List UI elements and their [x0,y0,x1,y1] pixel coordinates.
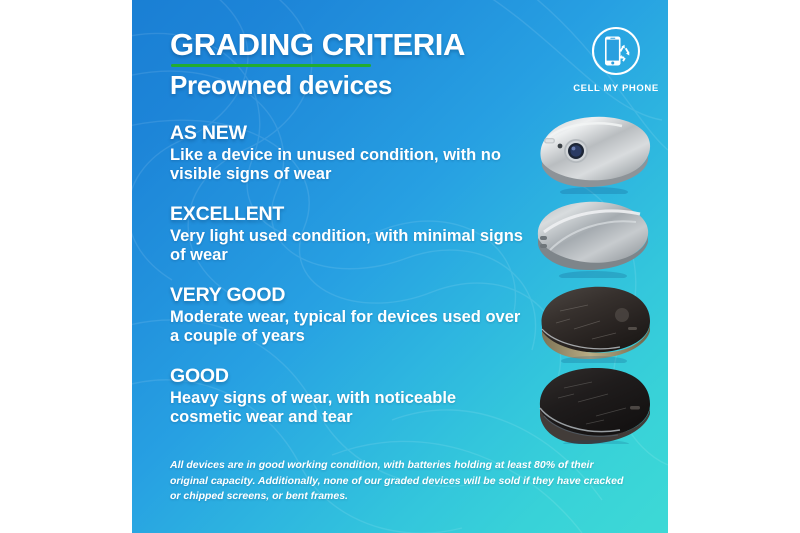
device-image-good [530,358,656,444]
grade-name: VERY GOOD [170,284,530,307]
grade-row-excellent: EXCELLENT Very light used condition, wit… [170,203,530,266]
device-image-very-good [530,277,656,363]
grade-name: GOOD [170,365,530,388]
brand-logo: CELL MY PHONE [564,26,668,100]
disclaimer-text: All devices are in good working conditio… [170,458,632,505]
page-subtitle: Preowned devices [170,70,392,101]
grade-row-very-good: VERY GOOD Moderate wear, typical for dev… [170,284,530,347]
grade-description: Very light used condition, with minimal … [170,227,530,266]
brand-name: CELL MY PHONE [564,83,668,94]
grade-description: Like a device in unused condition, with … [170,146,530,185]
phone-recycle-icon [591,26,641,76]
device-image-excellent [530,192,656,278]
grade-row-good: GOOD Heavy signs of wear, with noticeabl… [170,365,530,428]
grade-row-as-new: AS NEW Like a device in unused condition… [170,122,530,185]
gradient-panel: GRADING CRITERIA Preowned devices CELL M… [132,0,668,533]
grade-name: AS NEW [170,122,530,145]
device-image-as-new [530,108,656,194]
grade-description: Heavy signs of wear, with noticeable cos… [170,389,530,428]
grade-description: Moderate wear, typical for devices used … [170,308,530,347]
page-title: GRADING CRITERIA [170,27,465,63]
grade-name: EXCELLENT [170,203,530,226]
title-underline-rule [171,64,371,67]
infographic-canvas: GRADING CRITERIA Preowned devices CELL M… [0,0,800,533]
